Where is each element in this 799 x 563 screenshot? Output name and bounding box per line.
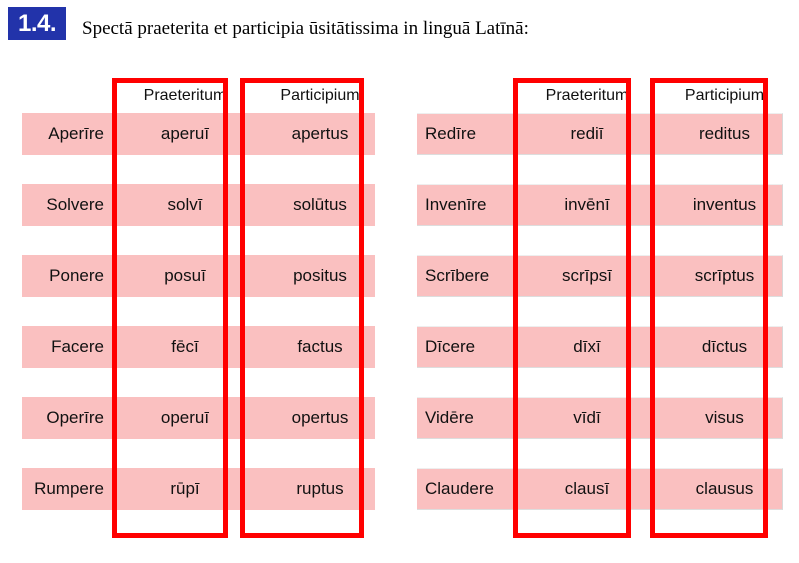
table-cell-praeteritum: rūpī [120,468,250,510]
table-cell-infinitive: Operīre [22,397,112,439]
section-number-badge: 1.4. [8,7,66,40]
table-cell-praeteritum: invēnī [517,184,657,226]
exercise-instruction: Spectā praeterita et participia ūsitātis… [82,18,529,40]
column-header-participium-right: Participium [662,78,787,113]
table-cell-participium: apertus [260,113,380,155]
table-cell-participium: reditus [662,113,787,155]
table-cell-participium: scrīptus [662,255,787,297]
table-cell-praeteritum: dīxī [517,326,657,368]
table-cell-praeteritum: clausī [517,468,657,510]
table-cell-participium: clausus [662,468,787,510]
table-cell-infinitive: Vidēre [417,397,517,439]
table-cell-infinitive: Scrībere [417,255,517,297]
table-cell-participium: solūtus [260,184,380,226]
table-cell-infinitive: Solvere [22,184,112,226]
column-header-praeteritum-right: Praeteritum [517,78,657,113]
table-cell-infinitive: Invenīre [417,184,517,226]
table-cell-praeteritum: rediī [517,113,657,155]
exercise-header: 1.4. Spectā praeterita et participia ūsi… [0,0,799,60]
table-cell-infinitive: Aperīre [22,113,112,155]
table-cell-participium: factus [260,326,380,368]
table-cell-praeteritum: aperuī [120,113,250,155]
table-cell-praeteritum: operuī [120,397,250,439]
table-cell-infinitive: Claudere [417,468,517,510]
table-cell-praeteritum: vīdī [517,397,657,439]
table-cell-participium: opertus [260,397,380,439]
table-cell-participium: positus [260,255,380,297]
table-cell-infinitive: Dīcere [417,326,517,368]
table-cell-participium: inventus [662,184,787,226]
table-cell-praeteritum: posuī [120,255,250,297]
table-cell-praeteritum: fēcī [120,326,250,368]
table-cell-infinitive: Redīre [417,113,517,155]
table-cell-participium: ruptus [260,468,380,510]
table-cell-infinitive: Rumpere [22,468,112,510]
column-header-participium-left: Participium [260,78,380,113]
table-cell-participium: dīctus [662,326,787,368]
table-cell-participium: visus [662,397,787,439]
table-cell-praeteritum: solvī [120,184,250,226]
column-header-praeteritum-left: Praeteritum [120,78,250,113]
table-cell-praeteritum: scrīpsī [517,255,657,297]
table-cell-infinitive: Facere [22,326,112,368]
table-cell-infinitive: Ponere [22,255,112,297]
